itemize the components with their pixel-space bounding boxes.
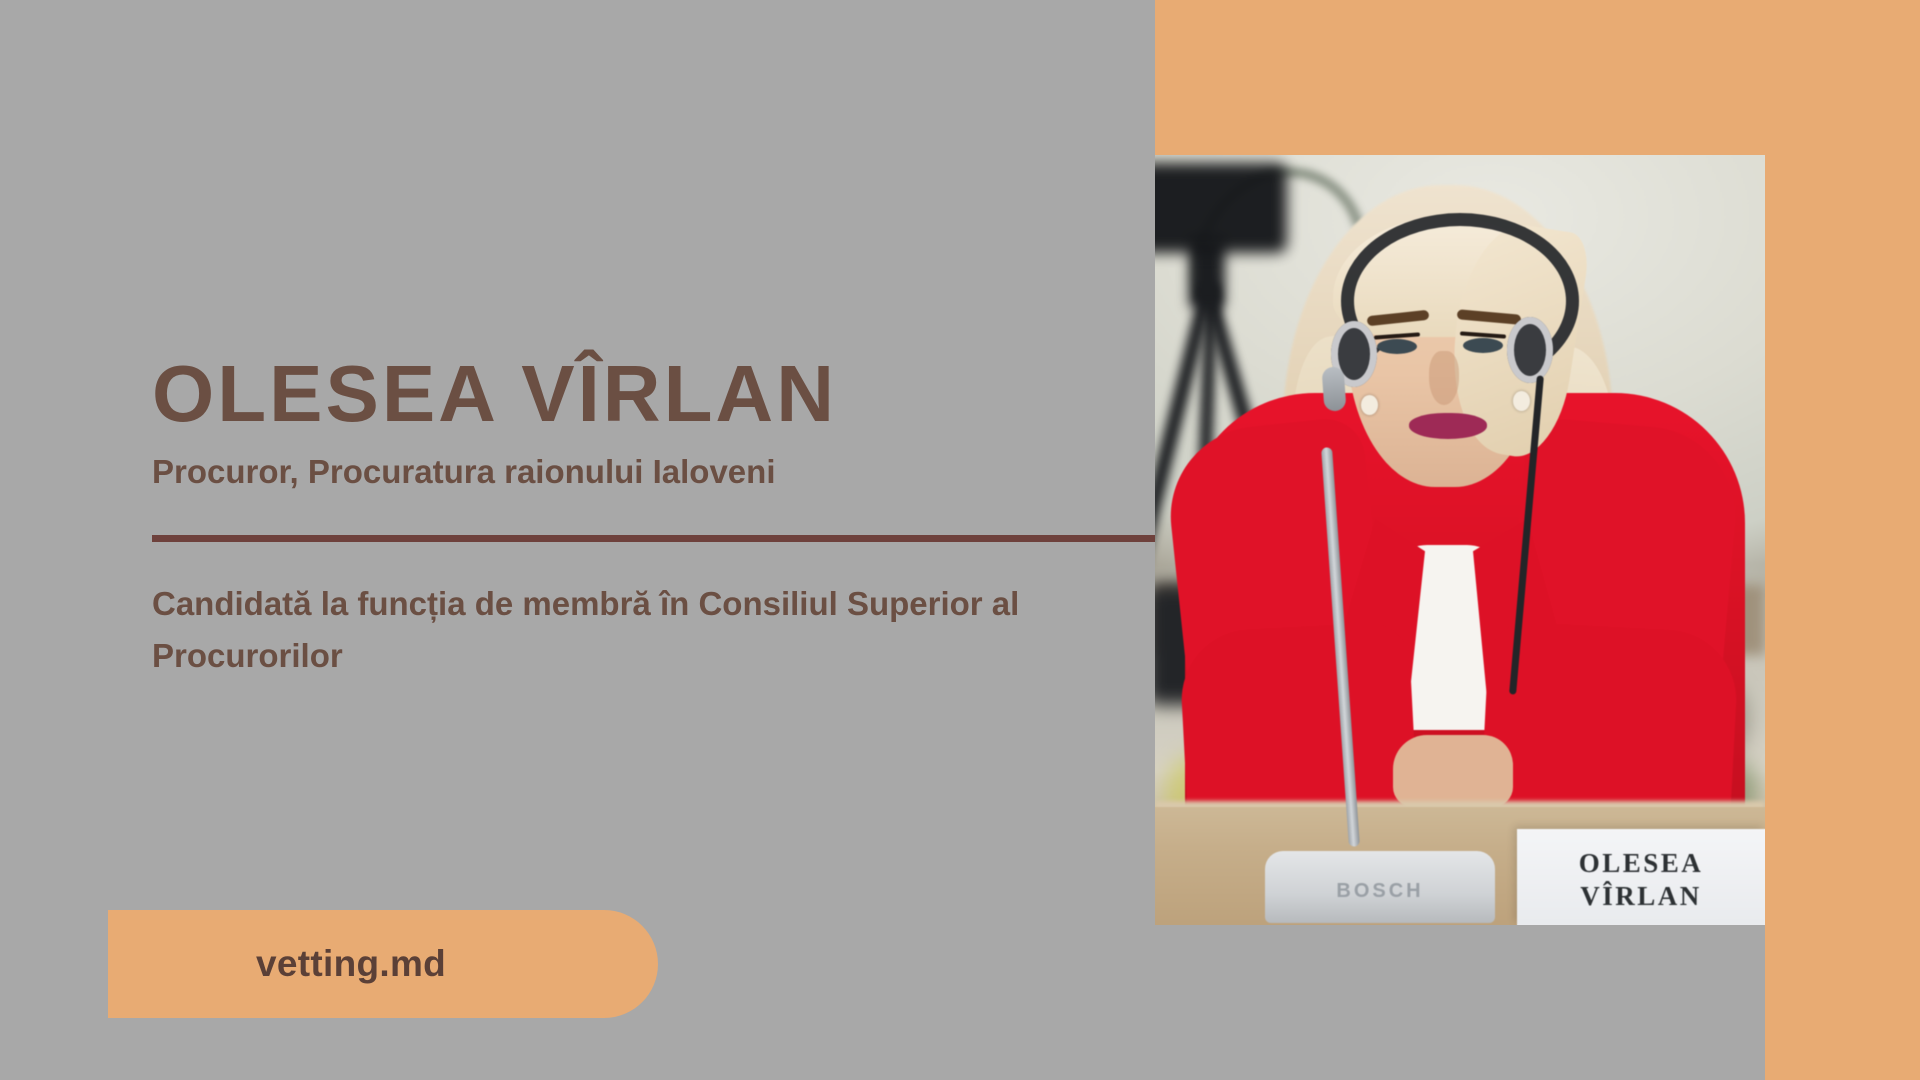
nameplate-line-1: OLESEA	[1579, 847, 1704, 880]
hands	[1393, 735, 1513, 807]
candidate-position: Procuror, Procuratura raionului Ialoveni	[152, 452, 776, 492]
candidacy-description: Candidată la funcția de membră în Consil…	[152, 578, 1112, 682]
microphone-brand-label: BOSCH	[1305, 880, 1455, 903]
divider	[152, 535, 1155, 542]
lips	[1409, 413, 1487, 439]
website-badge[interactable]: vetting.md	[108, 910, 658, 1018]
microphone-head	[1321, 366, 1346, 411]
desk-nameplate: OLESEA VÎRLAN	[1517, 829, 1765, 925]
camera-head	[1155, 163, 1287, 253]
website-badge-label: vetting.md	[256, 943, 446, 985]
page-title: OLESEA VÎRLAN	[152, 354, 837, 434]
panel-grey-foot	[1155, 925, 1765, 1080]
photo-background: BOSCH OLESEA VÎRLAN	[1155, 155, 1765, 925]
arm-left	[1178, 621, 1418, 823]
earring-right	[1513, 391, 1530, 411]
headphone-earcup-right	[1507, 317, 1553, 383]
candidate-card: BOSCH OLESEA VÎRLAN OLESEA VÎRLAN Procur…	[0, 0, 1920, 1080]
candidate-photo: BOSCH OLESEA VÎRLAN	[1155, 155, 1765, 925]
nameplate-line-2: VÎRLAN	[1580, 880, 1702, 913]
earring-left	[1361, 395, 1378, 415]
